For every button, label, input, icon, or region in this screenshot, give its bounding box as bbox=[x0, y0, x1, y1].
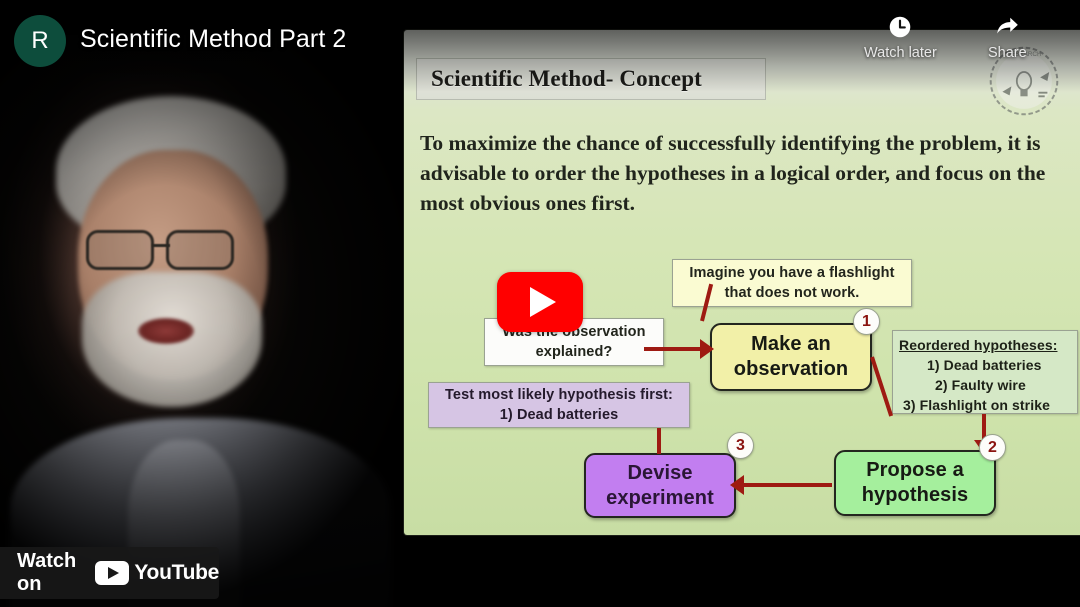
node-make-observation-line1: Make an bbox=[734, 332, 848, 357]
share-button[interactable]: Share bbox=[988, 14, 1027, 61]
video-title[interactable]: Scientific Method Part 2 bbox=[80, 25, 346, 54]
note-flashlight-line2: that does not work. bbox=[689, 283, 894, 303]
arrow-head-propose-to-devise bbox=[730, 475, 744, 495]
node-make-observation-line2: observation bbox=[734, 357, 848, 382]
youtube-logo-icon: YouTube bbox=[95, 561, 219, 585]
youtube-player[interactable]: Scientific Method- Concept To maximize t… bbox=[0, 0, 1080, 607]
presenter-vignette bbox=[0, 0, 404, 607]
node-propose-hypothesis-line1: Propose a bbox=[862, 458, 969, 483]
step-badge-3: 3 bbox=[727, 432, 754, 459]
step-badge-1: 1 bbox=[853, 308, 880, 335]
watch-on-youtube-button[interactable]: Watch on YouTube bbox=[0, 547, 219, 599]
note-observation-explained-line2: explained? bbox=[502, 342, 645, 362]
arrow-test-to-devise bbox=[657, 428, 661, 454]
presenter-video-region bbox=[0, 0, 404, 607]
note-test-hypothesis-line1: Test most likely hypothesis first: bbox=[445, 385, 673, 405]
note-test-hypothesis: Test most likely hypothesis first: 1) De… bbox=[428, 382, 690, 428]
step-badge-2: 2 bbox=[979, 434, 1006, 461]
reordered-item-1: 1) Dead batteries bbox=[899, 355, 1071, 375]
note-reordered-hypotheses: Reordered hypotheses: 1) Dead batteries … bbox=[892, 330, 1078, 414]
clock-icon bbox=[887, 14, 913, 40]
arrow-head-was-to-make bbox=[700, 339, 714, 359]
node-make-observation: Make an observation bbox=[710, 323, 872, 391]
reordered-item-3: 3) Flashlight on strike bbox=[899, 395, 1071, 415]
reordered-item-2: 2) Faulty wire bbox=[899, 375, 1071, 395]
arrow-was-to-make bbox=[644, 347, 702, 351]
youtube-wordmark: YouTube bbox=[134, 561, 219, 585]
arrow-make-to-reordered bbox=[870, 356, 893, 416]
player-header: R Scientific Method Part 2 Watch later S… bbox=[0, 0, 1080, 84]
node-propose-hypothesis-line2: hypothesis bbox=[862, 483, 969, 508]
note-test-hypothesis-line2: 1) Dead batteries bbox=[445, 405, 673, 425]
play-triangle-icon bbox=[530, 287, 556, 317]
watch-later-button[interactable]: Watch later bbox=[864, 14, 937, 61]
share-label: Share bbox=[988, 45, 1027, 61]
reordered-heading: Reordered hypotheses: bbox=[899, 335, 1071, 355]
node-devise-experiment: Devise experiment bbox=[584, 453, 736, 518]
share-arrow-icon bbox=[994, 14, 1020, 40]
node-devise-experiment-line1: Devise bbox=[606, 461, 714, 486]
arrow-propose-to-devise bbox=[742, 483, 832, 487]
watch-on-label: Watch on bbox=[17, 550, 82, 596]
watch-later-label: Watch later bbox=[864, 45, 937, 61]
node-propose-hypothesis: Propose a hypothesis bbox=[834, 450, 996, 516]
node-devise-experiment-line2: experiment bbox=[606, 486, 714, 511]
channel-avatar[interactable]: R bbox=[14, 15, 66, 67]
play-button[interactable] bbox=[497, 272, 583, 332]
note-flashlight-line1: Imagine you have a flashlight bbox=[689, 263, 894, 283]
